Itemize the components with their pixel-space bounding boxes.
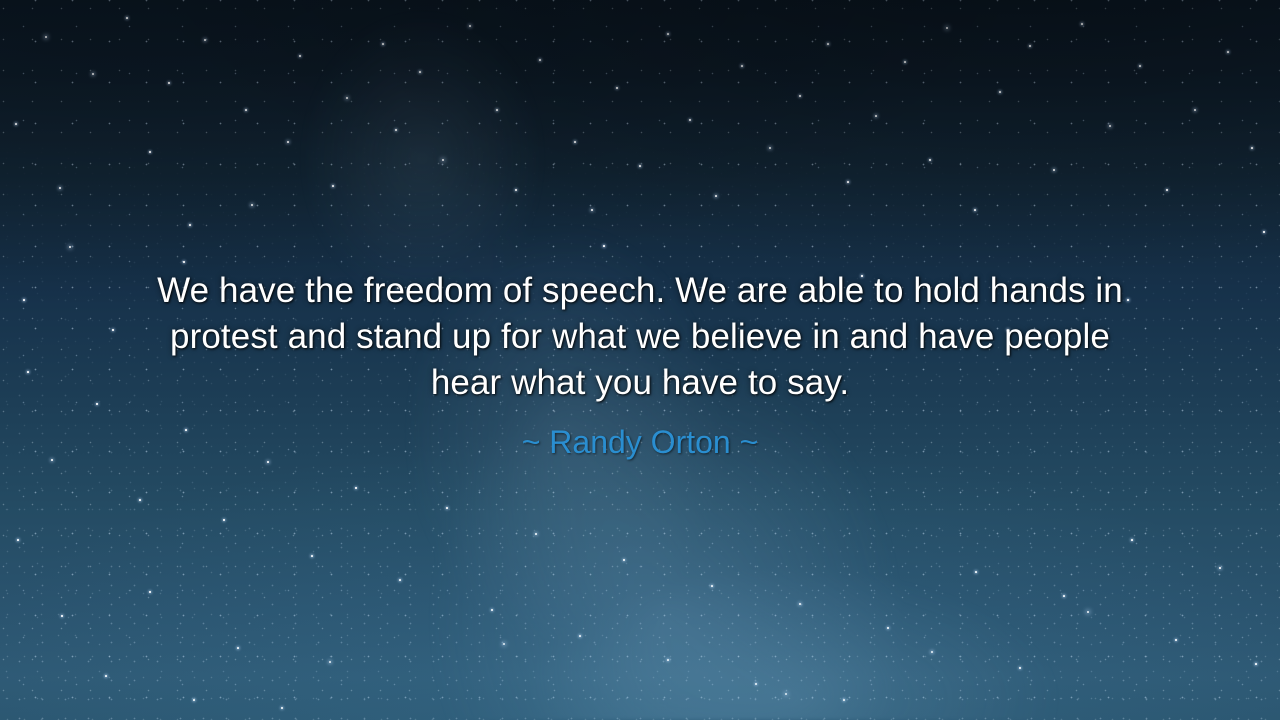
quote-attribution: ~ Randy Orton ~	[56, 423, 1224, 461]
quote-line-1: We have the freedom of speech. We are ab…	[75, 268, 1205, 314]
quote-block: We have the freedom of speech. We are ab…	[0, 268, 1280, 461]
quote-line-3: hear what you have to say.	[75, 360, 1205, 406]
quote-card-scene: We have the freedom of speech. We are ab…	[0, 0, 1280, 720]
quote-line-2: protest and stand up for what we believe…	[75, 314, 1205, 360]
